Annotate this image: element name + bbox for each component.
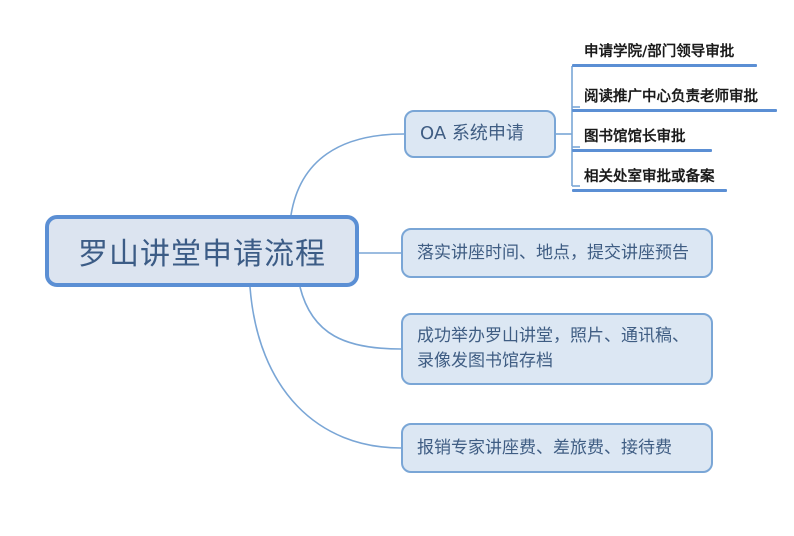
sub-item-oa-4[interactable]: 相关处室审批或备案 xyxy=(560,165,727,192)
mindmap-canvas: 罗山讲堂申请流程 OA 系统申请 申请学院/部门领导审批 阅读推广中心负责老师审… xyxy=(0,0,794,536)
sub-item-oa-4-label: 相关处室审批或备案 xyxy=(560,165,727,189)
branch-node-schedule-label: 落实讲座时间、地点，提交讲座预告 xyxy=(417,241,697,266)
root-node[interactable]: 罗山讲堂申请流程 xyxy=(45,215,359,287)
sub-item-oa-2-underline xyxy=(572,109,777,112)
sub-item-oa-3[interactable]: 图书馆馆长审批 xyxy=(560,125,712,152)
connector-root-to-oa xyxy=(291,134,404,215)
branch-node-reimburse[interactable]: 报销专家讲座费、差旅费、接待费 xyxy=(401,423,713,473)
connector-root-to-hold xyxy=(300,287,401,349)
sub-item-oa-2[interactable]: 阅读推广中心负责老师审批 xyxy=(560,85,777,112)
branch-node-oa-label: OA 系统申请 xyxy=(420,121,540,147)
branch-node-schedule[interactable]: 落实讲座时间、地点，提交讲座预告 xyxy=(401,228,713,278)
branch-node-reimburse-label: 报销专家讲座费、差旅费、接待费 xyxy=(417,436,697,461)
branch-node-hold[interactable]: 成功举办罗山讲堂，照片、通讯稿、录像发图书馆存档 xyxy=(401,313,713,385)
sub-item-oa-3-label: 图书馆馆长审批 xyxy=(560,125,712,149)
root-node-label: 罗山讲堂申请流程 xyxy=(78,229,326,273)
sub-item-oa-2-label: 阅读推广中心负责老师审批 xyxy=(560,85,777,109)
sub-item-oa-1-underline xyxy=(572,64,757,67)
connector-root-to-reimburse xyxy=(250,287,401,448)
branch-node-hold-label: 成功举办罗山讲堂，照片、通讯稿、录像发图书馆存档 xyxy=(417,324,697,373)
sub-item-oa-3-underline xyxy=(572,149,712,152)
sub-item-oa-1-label: 申请学院/部门领导审批 xyxy=(560,40,757,64)
sub-item-oa-1[interactable]: 申请学院/部门领导审批 xyxy=(560,40,757,67)
sub-item-oa-4-underline xyxy=(572,189,727,192)
branch-node-oa[interactable]: OA 系统申请 xyxy=(404,110,556,158)
